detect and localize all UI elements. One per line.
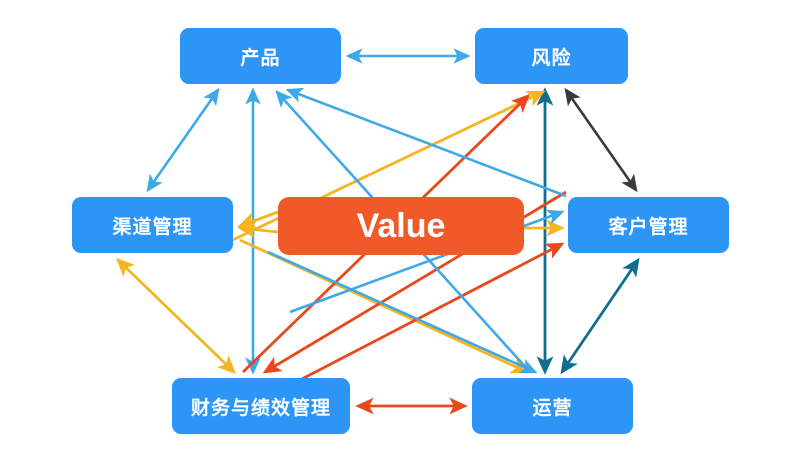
edge-channel-finance [118, 260, 234, 372]
node-product-label: 产品 [240, 43, 280, 70]
node-channel-management[interactable]: 渠道管理 [72, 197, 233, 253]
edge-customer-product [288, 90, 566, 196]
node-finance-label: 财务与绩效管理 [191, 393, 331, 420]
node-channel-label: 渠道管理 [112, 212, 192, 239]
node-customer-management[interactable]: 客户管理 [568, 197, 729, 253]
node-customer-label: 客户管理 [608, 212, 688, 239]
node-value-center[interactable]: Value [278, 197, 524, 255]
node-finance-performance-management[interactable]: 财务与绩效管理 [172, 378, 350, 434]
node-value-label: Value [357, 207, 446, 246]
diagram-canvas: 产品 风险 渠道管理 客户管理 财务与绩效管理 运营 Value [0, 0, 800, 449]
edge-operation-customer [300, 244, 562, 380]
edge-product-channel [148, 90, 218, 190]
edge-value-channel-a [240, 212, 278, 226]
edge-risk-customer [566, 90, 636, 190]
edge-customer-operation [562, 260, 638, 372]
node-operation-label: 运营 [532, 393, 572, 420]
node-risk-label: 风险 [531, 43, 571, 70]
node-risk[interactable]: 风险 [475, 28, 628, 84]
node-operation[interactable]: 运营 [472, 378, 633, 434]
node-product[interactable]: 产品 [180, 28, 341, 84]
